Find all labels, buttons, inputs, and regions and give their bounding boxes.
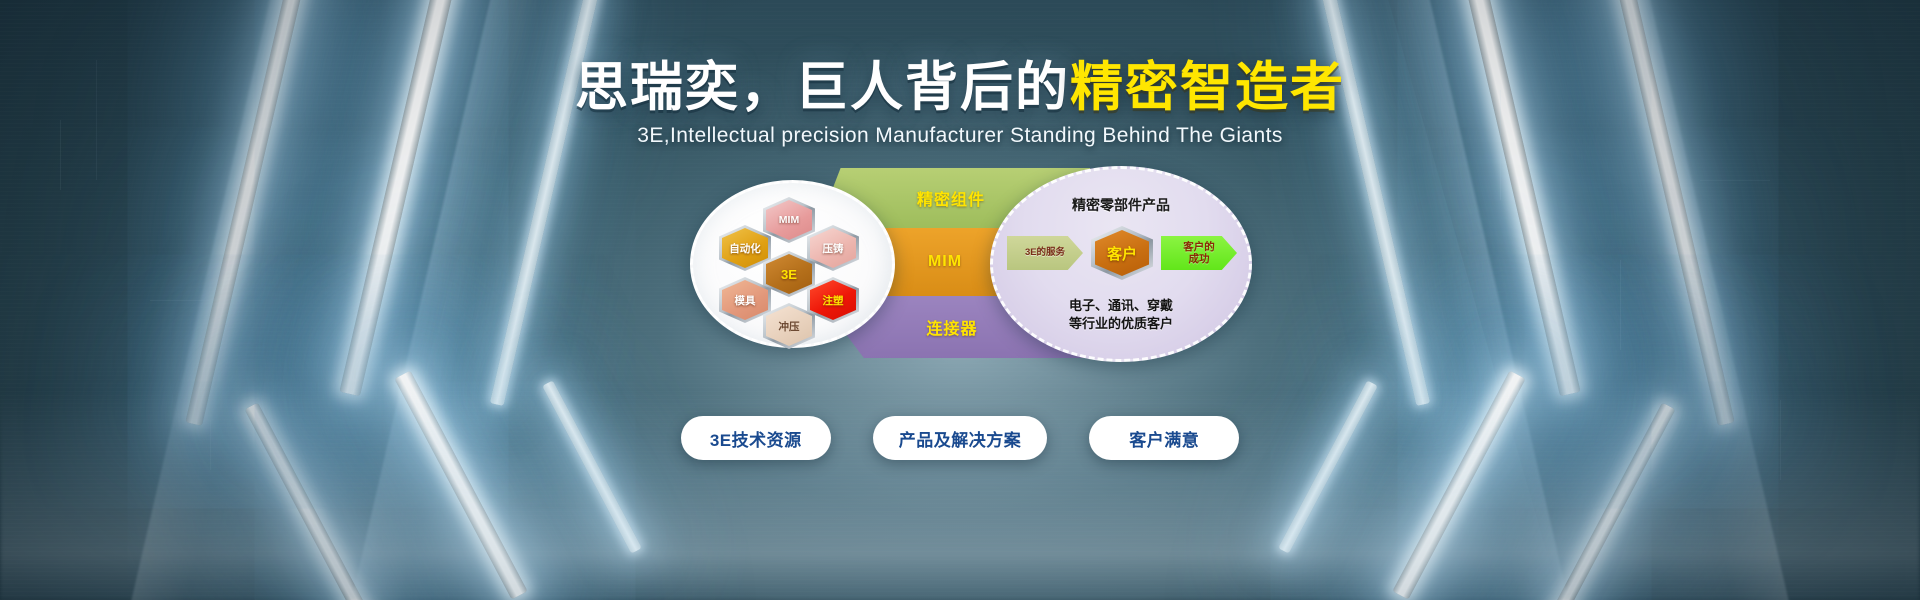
hexagon-label: 冲压 (779, 319, 800, 334)
service-flow: 3E的服务 客户 客户的 成功 (1007, 231, 1237, 275)
headline-block: 思瑞奕，巨人背后的精密智造者 (0, 60, 1920, 116)
cta-button-customer-satisfaction[interactable]: 客户满意 (1089, 416, 1239, 460)
hexagon-label: 压铸 (823, 241, 844, 256)
hexagon-label: 模具 (735, 293, 756, 308)
page-title: 思瑞奕，巨人背后的精密智造者 (575, 60, 1345, 116)
hexagon-label: MIM (779, 214, 799, 226)
flow-hexagon-customer: 客户 (1091, 226, 1153, 280)
cta-button-tech-resources[interactable]: 3E技术资源 (681, 416, 831, 460)
capability-hex-circle: MIM 自动化 压铸 3E 模具 (690, 180, 895, 348)
hexagon-label: 自动化 (729, 241, 761, 256)
flow-arrow-success-line1: 客户的 (1183, 241, 1215, 253)
hexagon-label: 3E (781, 267, 797, 282)
page-subtitle: 3E,Intellectual precision Manufacturer S… (0, 124, 1920, 148)
flow-arrow-service: 3E的服务 (1007, 236, 1083, 270)
band-label: 精密组件 (917, 186, 985, 210)
hero-banner: 思瑞奕，巨人背后的精密智造者 3E,Intellectual precision… (0, 0, 1920, 600)
hexagon-label: 注塑 (823, 293, 844, 308)
customer-oval: 精密零部件产品 3E的服务 客户 客户的 成功 电子、通讯、穿戴 (990, 166, 1252, 362)
oval-title: 精密零部件产品 (993, 195, 1249, 215)
oval-footer-line1: 电子、通讯、穿戴 (993, 297, 1249, 315)
flow-hexagon-customer-label: 客户 (1107, 243, 1137, 264)
cta-button-label: 客户满意 (1129, 426, 1199, 451)
band-label: 连接器 (926, 315, 977, 339)
cta-button-label: 产品及解决方案 (899, 426, 1022, 451)
headline-accent-text: 精密智造者 (1070, 58, 1345, 117)
oval-footer: 电子、通讯、穿戴 等行业的优质客户 (993, 297, 1249, 333)
flow-arrow-success: 客户的 成功 (1161, 236, 1237, 270)
cta-button-label: 3E技术资源 (710, 426, 802, 451)
flow-arrow-service-label: 3E的服务 (1025, 248, 1065, 259)
headline-main-text: 思瑞奕，巨人背后的 (575, 58, 1070, 117)
capability-diagram: 精密组件 MIM 连接器 精密零部件产品 3E的服务 客户 (690, 168, 1250, 358)
flow-arrow-success-line2: 成功 (1183, 253, 1215, 265)
cta-button-products-solutions[interactable]: 产品及解决方案 (873, 416, 1048, 460)
cta-button-row: 3E技术资源 产品及解决方案 客户满意 (0, 416, 1920, 460)
hexagon-mim: MIM (763, 197, 815, 243)
oval-footer-line2: 等行业的优质客户 (993, 315, 1249, 333)
band-label: MIM (928, 253, 962, 271)
